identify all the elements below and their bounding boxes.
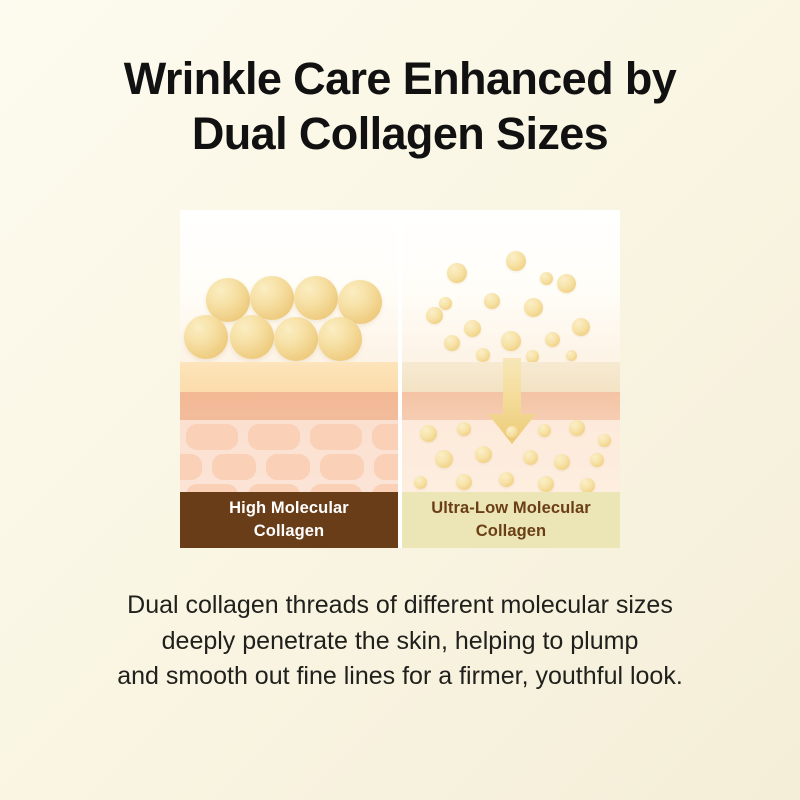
dermal-cell: [320, 454, 364, 480]
collagen-particle: [420, 425, 437, 442]
collagen-particle: [545, 332, 560, 347]
dermal-cell-row: [180, 454, 398, 480]
collagen-sphere: [230, 315, 274, 359]
collagen-particle: [538, 424, 551, 437]
collagen-sphere: [294, 276, 338, 320]
dermal-cell: [186, 424, 238, 450]
collagen-sphere: [274, 317, 318, 361]
collagen-particle: [506, 251, 526, 271]
collagen-particle: [566, 350, 577, 361]
collagen-particle: [554, 454, 570, 470]
caption-line-2: Collagen: [254, 520, 324, 543]
description-line-1: Dual collagen threads of different molec…: [35, 588, 765, 624]
collagen-particle: [523, 450, 538, 465]
collagen-sphere: [250, 276, 294, 320]
page-title-line-2: Dual Collagen Sizes: [40, 107, 760, 162]
caption-ultra-low-molecular: Ultra-Low Molecular Collagen: [402, 492, 620, 548]
collagen-particle: [439, 297, 452, 310]
collagen-particle: [590, 453, 604, 467]
dermal-cell: [374, 454, 398, 480]
dermal-cell: [372, 424, 398, 450]
caption-high-molecular: High Molecular Collagen: [180, 492, 398, 548]
page-title: Wrinkle Care Enhanced by Dual Collagen S…: [40, 52, 760, 162]
collagen-particle: [447, 263, 467, 283]
dermal-cell: [248, 424, 300, 450]
collagen-particle: [524, 298, 543, 317]
collagen-particle: [557, 274, 576, 293]
collagen-particle: [572, 318, 590, 336]
collagen-particle: [569, 420, 585, 436]
collagen-particle: [598, 434, 611, 447]
panel-ultra-low-molecular-collagen: Ultra-Low Molecular Collagen: [402, 210, 620, 548]
collagen-particle: [414, 476, 427, 489]
description-text: Dual collagen threads of different molec…: [35, 588, 765, 695]
dermal-cell: [180, 454, 202, 480]
dermal-cell: [372, 484, 398, 492]
description-line-2: deeply penetrate the skin, helping to pl…: [35, 624, 765, 660]
collagen-particle: [499, 472, 514, 487]
collagen-particle: [506, 426, 518, 438]
caption-line-1: Ultra-Low Molecular: [431, 497, 591, 520]
panel-high-molecular-collagen: High Molecular Collagen: [180, 210, 398, 548]
dermal-cell: [310, 424, 362, 450]
skin-layer-dermis: [180, 420, 398, 492]
collagen-particle: [444, 335, 460, 351]
collagen-particle: [501, 331, 521, 351]
collagen-particle: [435, 450, 453, 468]
skin-layer-dermal-junction: [180, 392, 398, 420]
collagen-particle: [484, 293, 500, 309]
dermal-cell: [266, 454, 310, 480]
collagen-particle: [540, 272, 553, 285]
collagen-particle: [538, 476, 554, 492]
dermal-cell: [310, 484, 362, 492]
collagen-particle: [580, 478, 595, 493]
caption-line-2: Collagen: [476, 520, 546, 543]
dermal-cell: [248, 484, 300, 492]
page-title-line-1: Wrinkle Care Enhanced by: [40, 52, 760, 107]
dermal-cell: [212, 454, 256, 480]
collagen-particle: [457, 422, 471, 436]
caption-line-1: High Molecular: [229, 497, 349, 520]
dermal-cell-row: [186, 424, 398, 450]
collagen-particle: [456, 474, 472, 490]
collagen-particle: [475, 446, 492, 463]
collagen-comparison-diagram: High Molecular Collagen: [180, 210, 620, 548]
dermal-cell: [186, 484, 238, 492]
collagen-particle: [426, 307, 443, 324]
description-line-3: and smooth out fine lines for a firmer, …: [35, 659, 765, 695]
collagen-sphere: [318, 317, 362, 361]
collagen-sphere: [184, 315, 228, 359]
dermal-cell-row: [186, 484, 398, 492]
poster-canvas: Wrinkle Care Enhanced by Dual Collagen S…: [0, 0, 800, 800]
collagen-particle: [464, 320, 481, 337]
skin-layer-epidermis: [180, 362, 398, 392]
